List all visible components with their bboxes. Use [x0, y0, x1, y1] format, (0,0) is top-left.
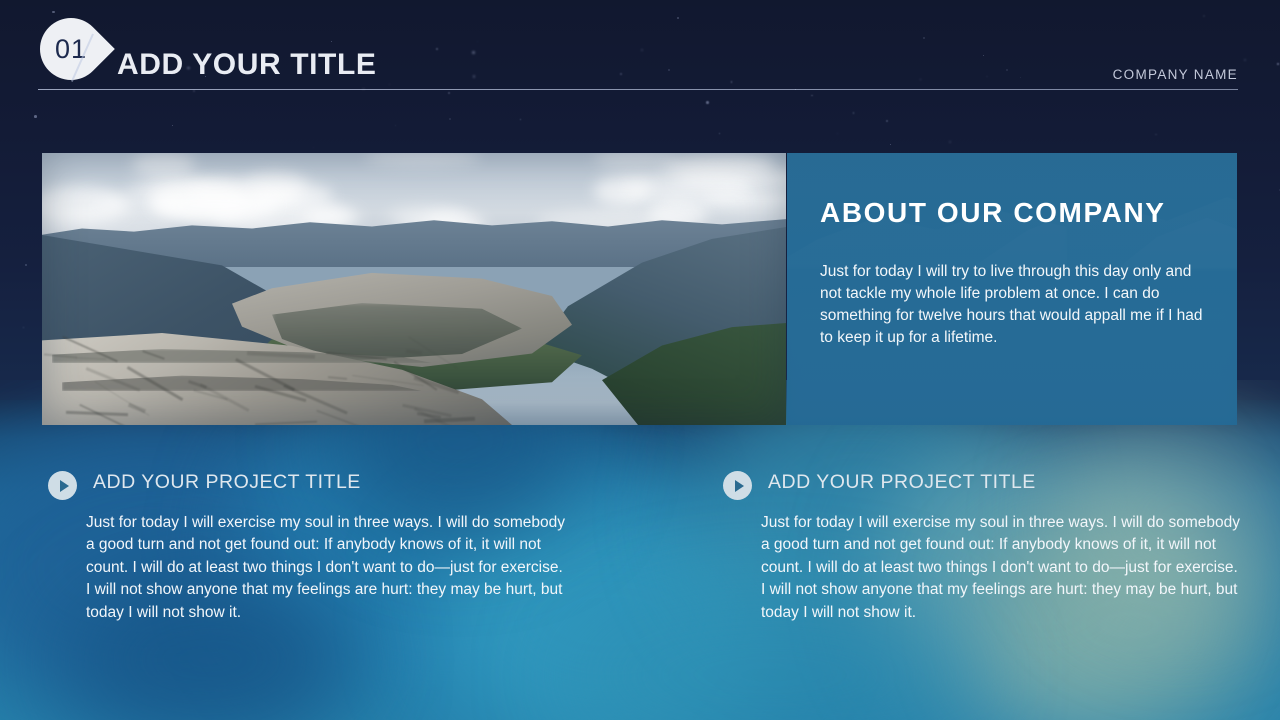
about-heading: ABOUT OUR COMPANY — [820, 199, 1166, 227]
about-body-text: Just for today I will try to live throug… — [820, 261, 1210, 349]
page-title: ADD YOUR TITLE — [117, 50, 377, 80]
project-body-right: Just for today I will exercise my soul i… — [761, 512, 1243, 624]
header-divider-line — [38, 89, 1238, 90]
about-company-panel: ABOUT OUR COMPANY Just for today I will … — [787, 153, 1237, 425]
photo-vignette — [42, 153, 786, 425]
number-badge-label: 01 — [40, 18, 102, 80]
fjord-photo — [42, 153, 786, 425]
play-circle-icon[interactable] — [723, 471, 752, 500]
slide-header: 01 ADD YOUR TITLE COMPANY NAME — [0, 0, 1280, 100]
play-triangle-icon — [735, 480, 744, 492]
project-title-right: ADD YOUR PROJECT TITLE — [768, 473, 1036, 493]
play-triangle-icon — [60, 480, 69, 492]
company-name-label: COMPANY NAME — [1113, 68, 1238, 82]
slide-canvas: 01 ADD YOUR TITLE COMPANY NAME ABOUT OUR… — [0, 0, 1280, 720]
play-circle-icon[interactable] — [48, 471, 77, 500]
project-title-left: ADD YOUR PROJECT TITLE — [93, 473, 361, 493]
project-body-left: Just for today I will exercise my soul i… — [86, 512, 568, 624]
